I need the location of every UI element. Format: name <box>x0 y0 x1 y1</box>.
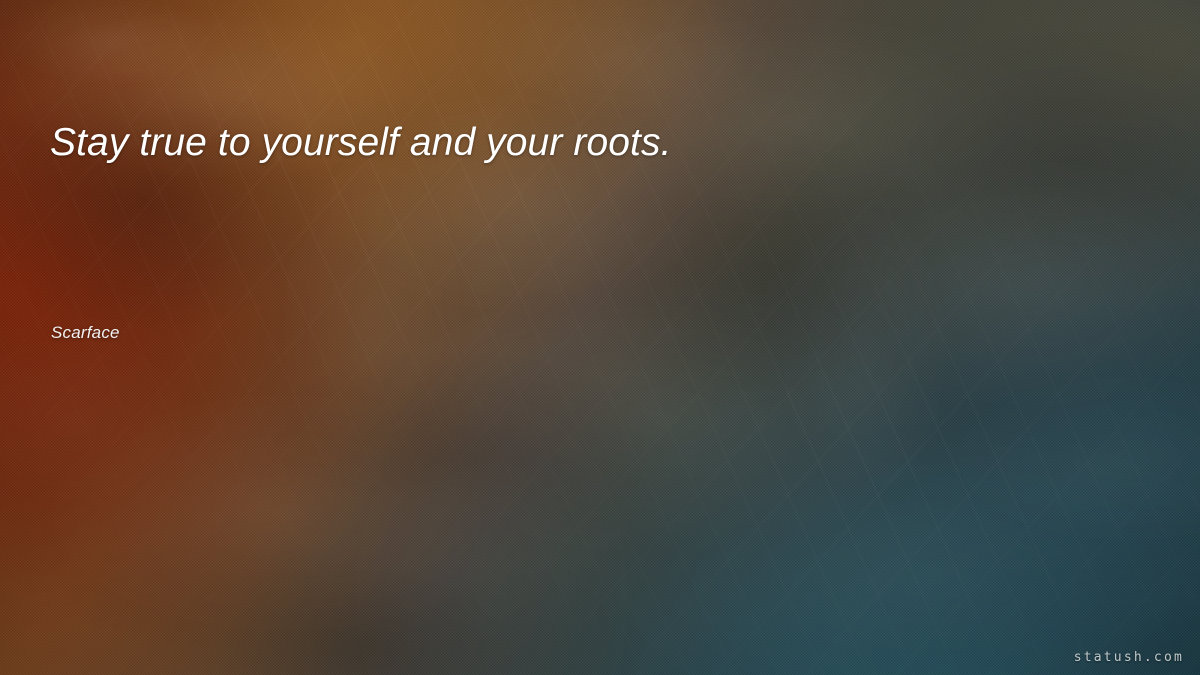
quote-author: Scarface <box>51 323 120 343</box>
site-watermark: statush.com <box>1074 650 1184 665</box>
card-content: Stay true to yourself and your roots. Sc… <box>0 0 1200 675</box>
quote-card: Stay true to yourself and your roots. Sc… <box>0 0 1200 675</box>
quote-text: Stay true to yourself and your roots. <box>50 119 1100 167</box>
